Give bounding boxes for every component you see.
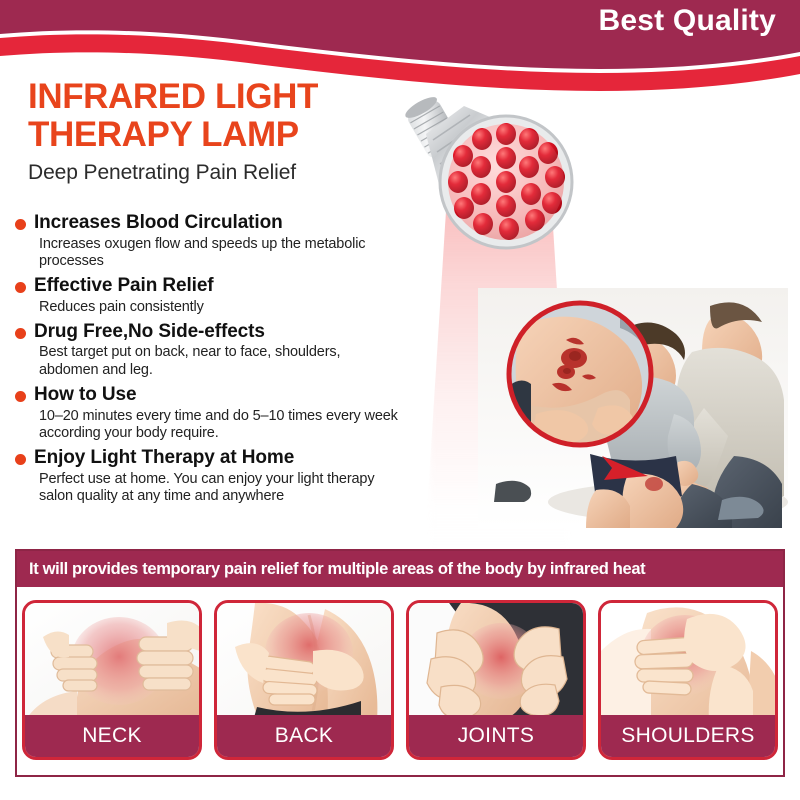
body-area-card-joints[interactable]: JOINTS: [406, 600, 586, 760]
page-title: INFRARED LIGHT THERAPY LAMP: [28, 78, 428, 154]
infrared-lamp-icon: [378, 82, 608, 282]
knee-joint-pain-photo: [409, 603, 583, 721]
title-line-2: THERAPY LAMP: [28, 116, 428, 154]
bullet-dot-icon: [15, 391, 26, 402]
feature-heading: How to Use: [34, 384, 402, 407]
photo-illustration: [478, 288, 788, 528]
body-area-card-list: NECK: [22, 600, 778, 764]
body-area-card-back[interactable]: BACK: [214, 600, 394, 760]
list-item: Drug Free,No Side-effects Best target pu…: [12, 321, 402, 380]
body-area-label: SHOULDERS: [621, 724, 754, 748]
feature-heading: Effective Pain Relief: [34, 275, 402, 298]
list-item: Increases Blood Circulation Increases ox…: [12, 212, 402, 271]
body-areas-banner: It will provides temporary pain relief f…: [17, 551, 783, 587]
feature-list: Increases Blood Circulation Increases ox…: [12, 212, 402, 510]
shoulders-photo-illustration: [601, 603, 775, 721]
title-line-1: INFRARED LIGHT: [28, 78, 428, 116]
page-subtitle: Deep Penetrating Pain Relief: [28, 161, 428, 185]
card-label-bar: NECK: [25, 715, 199, 757]
body-area-label: JOINTS: [458, 724, 534, 748]
list-item: How to Use 10–20 minutes every time and …: [12, 384, 402, 443]
body-area-card-neck[interactable]: NECK: [22, 600, 202, 760]
card-label-bar: BACK: [217, 715, 391, 757]
back-photo-illustration: [217, 603, 391, 721]
body-area-label: BACK: [275, 724, 333, 748]
neck-photo-illustration: [25, 603, 199, 721]
feature-body: 10–20 minutes every time and do 5–10 tim…: [39, 408, 402, 443]
body-areas-banner-text: It will provides temporary pain relief f…: [17, 560, 645, 579]
feature-body: Best target put on back, near to face, s…: [39, 344, 402, 379]
joints-photo-illustration: [409, 603, 583, 721]
feature-body: Perfect use at home. You can enjoy your …: [39, 471, 402, 506]
bullet-dot-icon: [15, 328, 26, 339]
bullet-dot-icon: [15, 454, 26, 465]
feature-body: Reduces pain consistently: [39, 299, 402, 317]
neck-pain-photo: [25, 603, 199, 721]
feature-body: Increases oxugen flow and speeds up the …: [39, 236, 402, 271]
body-area-label: NECK: [82, 724, 142, 748]
product-infographic: Best Quality INFRARED LIGHT THERAPY LAMP…: [0, 0, 800, 800]
back-pain-photo: [217, 603, 391, 721]
bullet-dot-icon: [15, 219, 26, 230]
card-label-bar: JOINTS: [409, 715, 583, 757]
feature-heading: Enjoy Light Therapy at Home: [34, 447, 402, 470]
list-item: Effective Pain Relief Reduces pain consi…: [12, 275, 402, 316]
father-treating-boy-knee-photo: [478, 288, 788, 528]
body-area-card-shoulders[interactable]: SHOULDERS: [598, 600, 778, 760]
shoulder-pain-photo: [601, 603, 775, 721]
feature-heading: Drug Free,No Side-effects: [34, 321, 402, 344]
card-label-bar: SHOULDERS: [601, 715, 775, 757]
product-title-block: INFRARED LIGHT THERAPY LAMP Deep Penetra…: [28, 78, 428, 185]
bullet-dot-icon: [15, 282, 26, 293]
feature-heading: Increases Blood Circulation: [34, 212, 402, 235]
list-item: Enjoy Light Therapy at Home Perfect use …: [12, 447, 402, 506]
best-quality-badge: Best Quality: [599, 6, 776, 36]
